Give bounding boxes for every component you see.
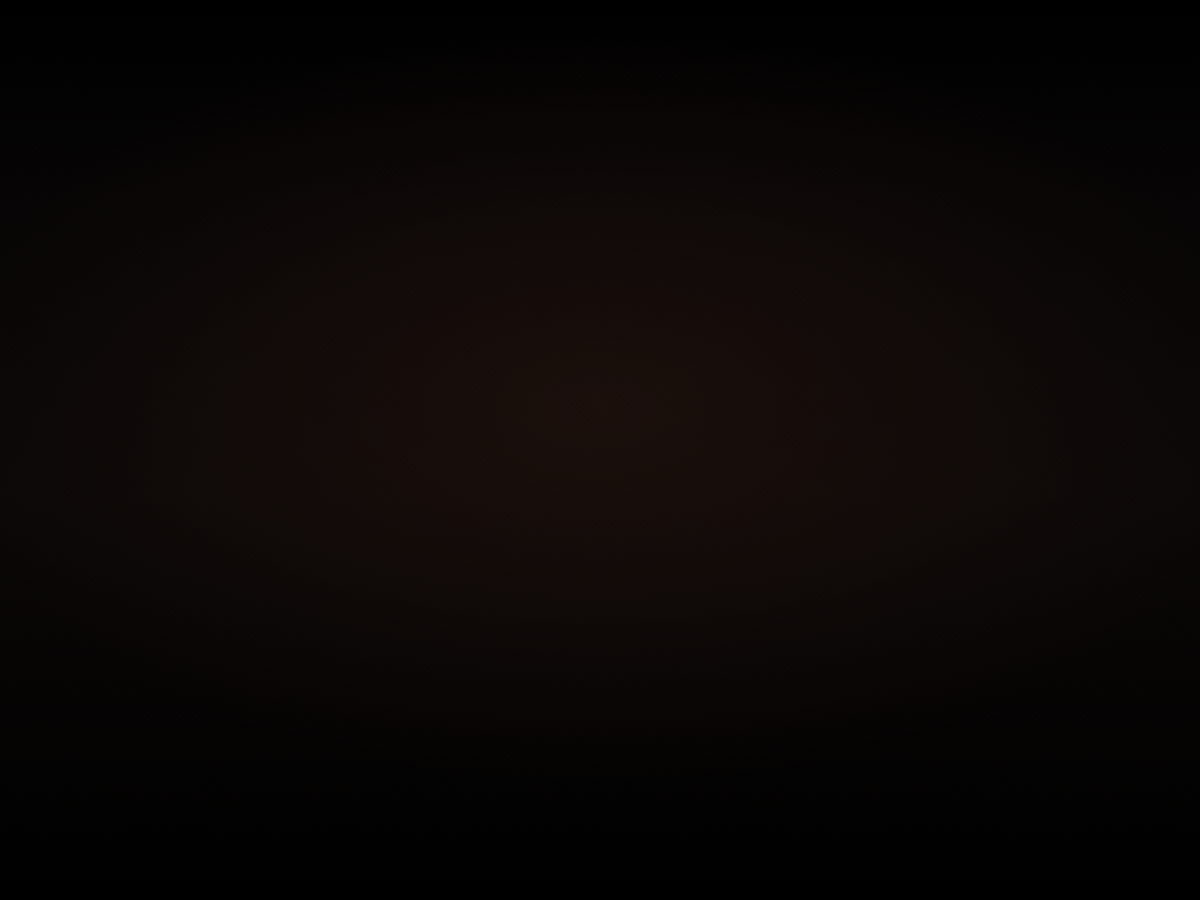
card-2: Programmatic OOH technology: [516, 396, 748, 544]
card-2-line-3: technology: [547, 485, 716, 516]
logo-text-at: AT: [1103, 701, 1138, 731]
slide-content: Way forward for Emerging of OOH Commerce…: [101, 145, 1170, 753]
card-1-line-1: Interactive: [229, 424, 362, 454]
slide-columns: Engage with Innovation Interactive with …: [147, 352, 1123, 545]
second-person-top-inner: [76, 866, 96, 900]
microphone-head-icon: [795, 772, 806, 783]
column-data-driven: Data Driven Programmatic OOH technology: [482, 352, 782, 544]
slide-footer-band: MAAT Media Agency Association of Thailan…: [101, 687, 1170, 752]
column-conversion: Conversion O2O and footfall to store: [820, 352, 1122, 541]
card-1-line-2: with: [229, 455, 362, 485]
card-2-line-2: OOH: [547, 455, 716, 486]
logo-wordmark: MAAT: [1057, 703, 1138, 730]
card-2-text: Programmatic OOH technology: [547, 424, 716, 516]
card-1-line-3: technology: [229, 485, 362, 515]
card-3-text: O2O and footfall to store: [913, 420, 1029, 512]
card-3-line-3: store: [913, 481, 1029, 512]
card-3-line-2: footfall to: [913, 451, 1029, 482]
card-1-text: Interactive with technology: [229, 424, 362, 515]
column-label-3: Conversion: [919, 352, 1024, 374]
card-3: O2O and footfall to store: [854, 392, 1088, 541]
card-2-line-1: Programmatic: [547, 424, 716, 455]
projection-screen: Way forward for Emerging of OOH Commerce…: [101, 145, 1170, 753]
slide-eyebrow-text: Way forward for Emerging of OOH Commerce: [102, 207, 1169, 234]
card-1: Interactive with technology: [180, 396, 410, 544]
column-label-1: Engage with Innovation: [187, 352, 397, 374]
auditorium-stage: Way forward for Emerging of OOH Commerce…: [0, 0, 1200, 900]
maat-logo: MAAT Media Agency Association of Thailan…: [1051, 703, 1143, 739]
column-engage-with-innovation: Engage with Innovation Interactive with …: [147, 352, 445, 544]
slide-surface: Way forward for Emerging of OOH Commerce…: [101, 145, 1170, 753]
slide-headline: BEYOND VISIBILITY: [102, 251, 1169, 327]
presenter-jeans: [802, 884, 860, 900]
column-label-2: Data Driven: [580, 352, 685, 374]
card-3-line-1: O2O and: [913, 420, 1029, 451]
logo-tagline: Media Agency Association of Thailand: [1051, 733, 1143, 738]
logo-text-ma: MA: [1057, 701, 1103, 731]
logo-dot-icon: [1096, 699, 1105, 708]
presenter-hand: [794, 800, 807, 818]
second-person: [38, 812, 138, 900]
presenter-with-microphone: [766, 742, 896, 900]
stage-floor: [0, 752, 1200, 900]
